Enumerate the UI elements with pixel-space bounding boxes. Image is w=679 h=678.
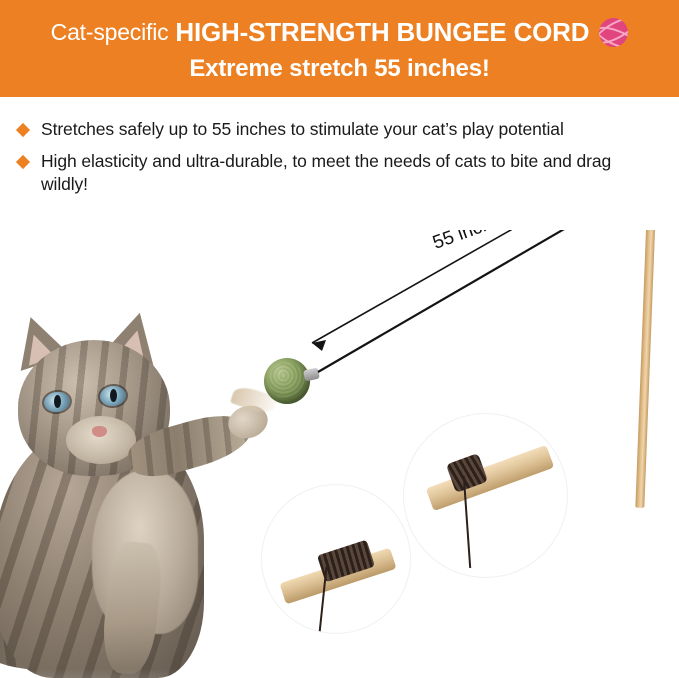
diamond-bullet-icon (16, 155, 30, 169)
bungee-cord-line (318, 230, 652, 372)
measurement-line (312, 230, 648, 343)
arrow-head-left (312, 340, 326, 351)
measurement-label: 55 inch (430, 230, 495, 255)
ball-connector (303, 368, 320, 382)
wooden-wand (635, 230, 657, 508)
feature-text: Stretches safely up to 55 inches to stim… (41, 118, 564, 140)
kitten-pupil-right (110, 389, 117, 402)
kitten-image (0, 274, 288, 678)
headline-strong: HIGH-STRENGTH BUNGEE CORD (175, 17, 589, 48)
feature-list: Stretches safely up to 55 inches to stim… (18, 118, 658, 205)
kitten-muzzle (66, 416, 136, 464)
inset-wand-wood (426, 445, 554, 511)
headline-lead: Cat-specific (51, 19, 169, 46)
headline-row: Cat-specific HIGH-STRENGTH BUNGEE CORD (51, 17, 629, 48)
inset-cord-attachment-detail (404, 414, 567, 577)
list-item: High elasticity and ultra-durable, to me… (18, 150, 658, 195)
list-item: Stretches safely up to 55 inches to stim… (18, 118, 658, 140)
product-photo: 55 inch (0, 230, 679, 678)
kitten-pupil-left (54, 395, 61, 408)
feature-text: High elasticity and ultra-durable, to me… (41, 150, 658, 195)
diamond-bullet-icon (16, 123, 30, 137)
subheadline: Extreme stretch 55 inches! (189, 55, 489, 83)
product-infographic: Cat-specific HIGH-STRENGTH BUNGEE CORD E… (0, 0, 679, 678)
inset-cord-knot-detail (262, 485, 410, 633)
catnip-ball (264, 358, 310, 404)
header-banner: Cat-specific HIGH-STRENGTH BUNGEE CORD E… (0, 0, 679, 97)
yarn-ball-icon (599, 18, 628, 47)
kitten-bottom-fade (0, 604, 288, 678)
kitten-nose (92, 426, 107, 437)
